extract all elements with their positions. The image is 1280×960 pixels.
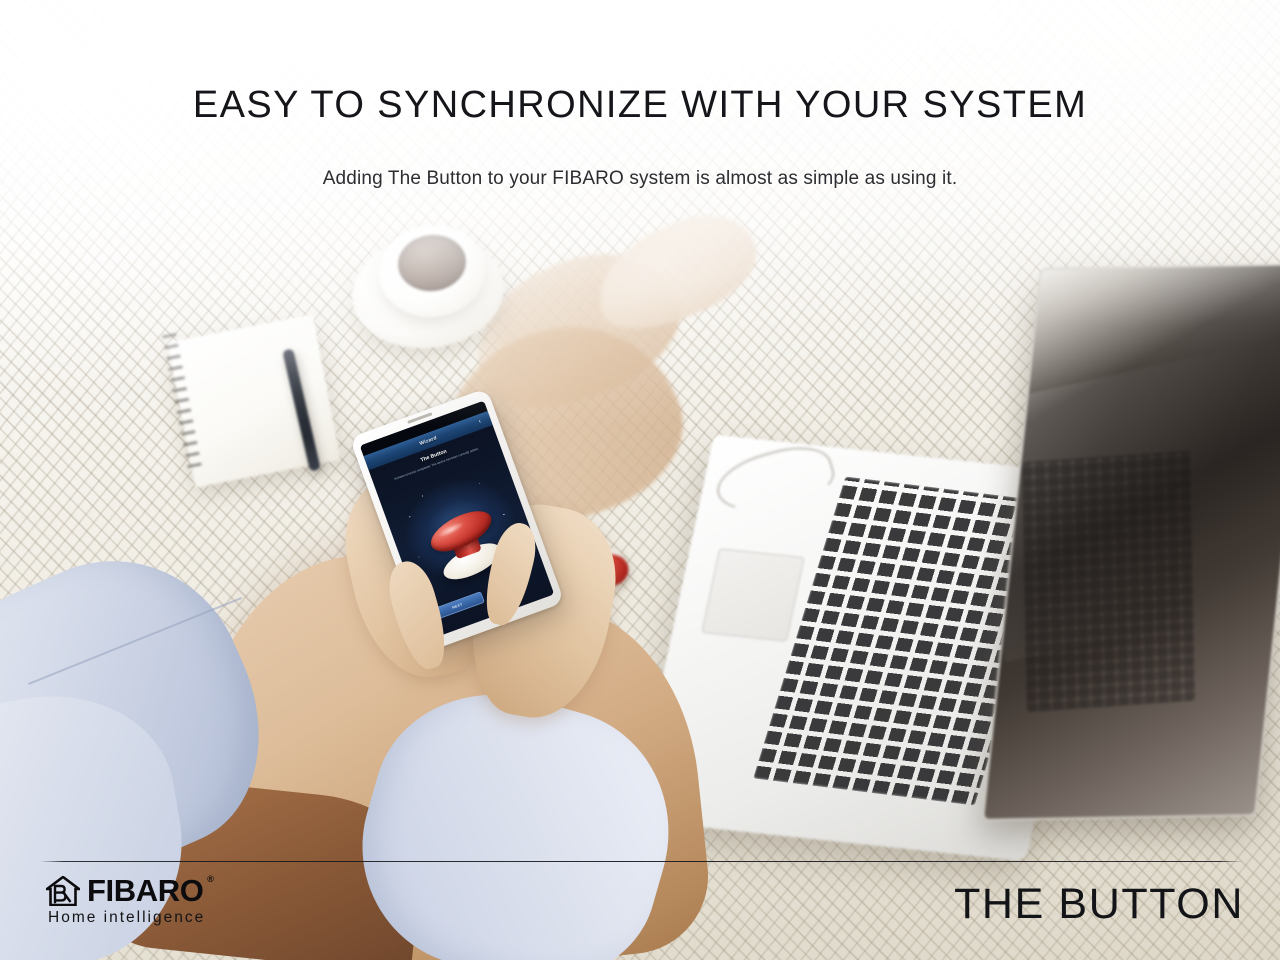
product-name: THE BUTTON bbox=[954, 880, 1244, 929]
logo-row: FIBARO ® bbox=[46, 876, 203, 906]
fibaro-wordmark: FIBARO ® bbox=[87, 877, 203, 906]
fibaro-house-icon bbox=[46, 876, 80, 906]
footer-divider bbox=[40, 861, 1243, 862]
page-subtitle: Adding The Button to your FIBARO system … bbox=[0, 168, 1280, 190]
brand-tagline: Home intelligence bbox=[48, 909, 205, 927]
lifestyle-photo: Wizard ‹ The Button Inclusion process co… bbox=[0, 0, 1280, 960]
presentation-slide: Wizard ‹ The Button Inclusion process co… bbox=[0, 0, 1280, 960]
photo-highlight-wash bbox=[0, 0, 1280, 960]
fibaro-wordmark-text: FIBARO bbox=[87, 873, 203, 908]
fibaro-logo: FIBARO ® Home intelligence bbox=[46, 876, 205, 927]
page-title: EASY TO SYNCHRONIZE WITH YOUR SYSTEM bbox=[0, 84, 1280, 127]
registered-trademark-icon: ® bbox=[207, 875, 213, 883]
